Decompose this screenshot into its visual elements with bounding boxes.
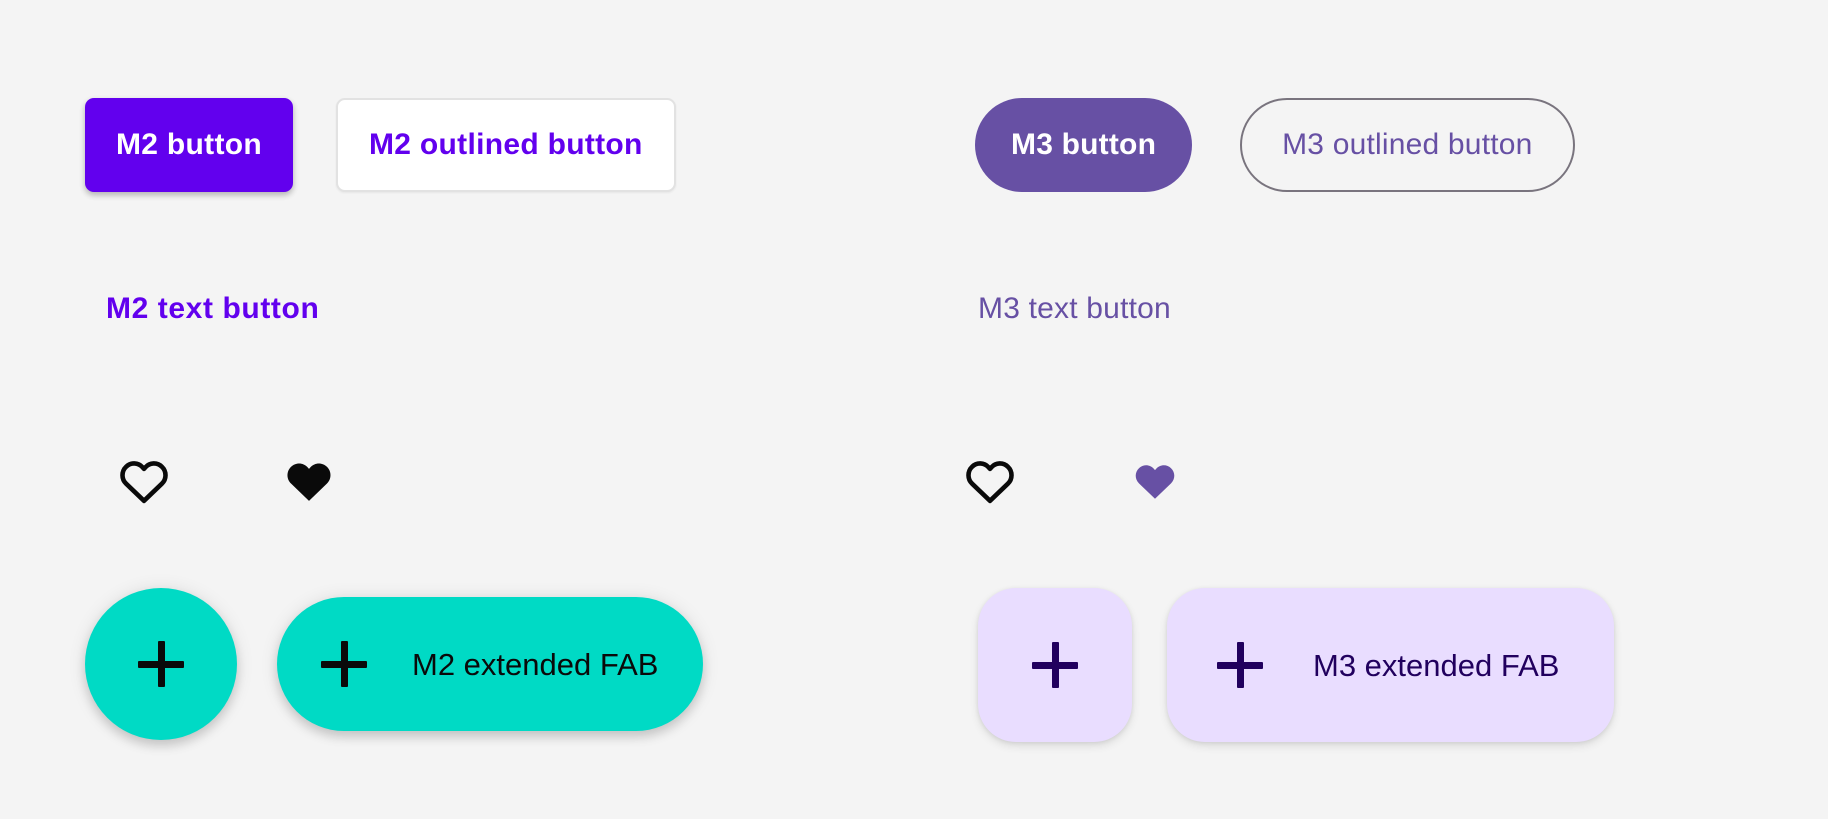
plus-icon	[1217, 642, 1263, 688]
plus-icon	[1032, 642, 1078, 688]
m2-contained-button[interactable]: M2 button	[85, 98, 293, 192]
plus-icon	[138, 641, 184, 687]
m3-fab-row: M3 extended FAB	[978, 588, 1614, 742]
m3-outlined-button[interactable]: M3 outlined button	[1240, 98, 1574, 192]
heart-filled-icon	[1129, 455, 1181, 507]
m3-heart-filled-button[interactable]	[1126, 452, 1184, 510]
m3-button-row: M3 button M3 outlined button	[975, 98, 1575, 192]
heart-outline-icon	[115, 452, 173, 510]
heart-outline-icon	[961, 452, 1019, 510]
m3-column: M3 button M3 outlined button M3 text but…	[960, 0, 1828, 819]
m2-extended-fab-label: M2 extended FAB	[412, 649, 658, 680]
m3-extended-fab-label: M3 extended FAB	[1313, 650, 1559, 681]
plus-icon	[321, 641, 367, 687]
m3-heart-outline-button[interactable]	[961, 452, 1019, 510]
heart-filled-icon	[280, 452, 338, 510]
m3-filled-button[interactable]: M3 button	[975, 98, 1192, 192]
m3-text-button[interactable]: M3 text button	[978, 292, 1171, 326]
m3-extended-fab[interactable]: M3 extended FAB	[1167, 588, 1614, 742]
comparison-stage: M2 button M2 outlined button M2 text but…	[0, 0, 1828, 819]
m2-outlined-button[interactable]: M2 outlined button	[336, 98, 676, 192]
m3-icon-row	[961, 452, 1184, 510]
m2-text-button[interactable]: M2 text button	[106, 292, 319, 326]
m2-button-row: M2 button M2 outlined button	[85, 98, 676, 192]
m2-heart-outline-button[interactable]	[115, 452, 173, 510]
m2-fab[interactable]	[85, 588, 237, 740]
m2-icon-row	[115, 452, 338, 510]
m2-fab-row: M2 extended FAB	[85, 588, 703, 740]
m3-text-button-row: M3 text button	[978, 292, 1171, 326]
m3-fab[interactable]	[978, 588, 1132, 742]
m2-heart-filled-button[interactable]	[280, 452, 338, 510]
m2-column: M2 button M2 outlined button M2 text but…	[0, 0, 960, 819]
m2-text-button-row: M2 text button	[106, 292, 319, 326]
m2-extended-fab[interactable]: M2 extended FAB	[277, 597, 703, 731]
